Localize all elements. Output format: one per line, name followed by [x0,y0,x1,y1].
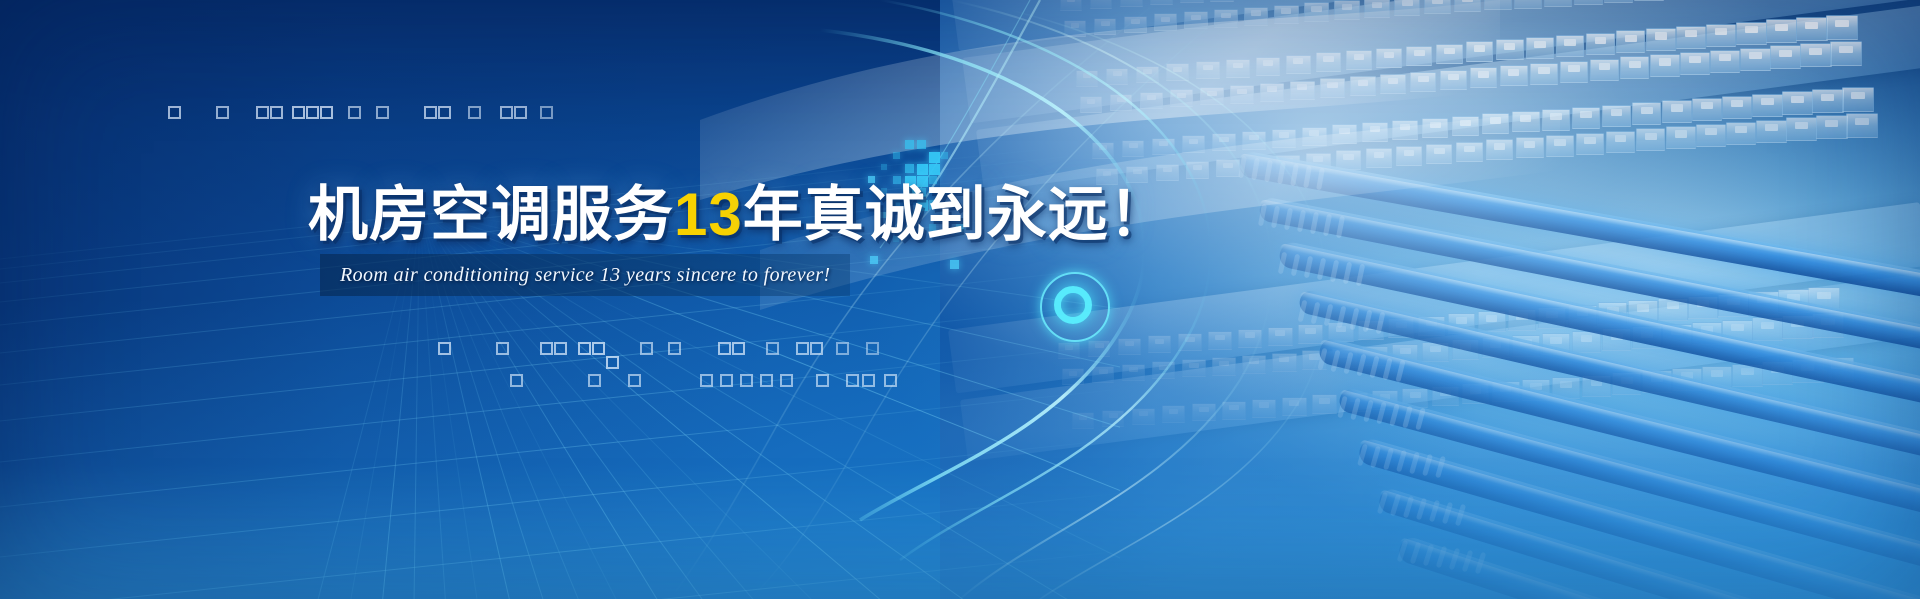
hollow-square [628,374,641,387]
hollow-square [256,106,269,119]
hollow-square [270,106,283,119]
hollow-square [348,106,361,119]
hollow-square [846,374,859,387]
headline-suffix: 年真诚到永远！ [743,181,1170,248]
hollow-square [866,342,879,355]
hollow-square [438,342,451,355]
hollow-square [640,342,653,355]
pixel-square [941,152,948,159]
hollow-square [816,374,829,387]
subtitle-text: Room air conditioning service 13 years s… [340,256,840,294]
hollow-square [578,342,591,355]
hollow-square [424,106,437,119]
hollow-square [306,106,319,119]
hollow-square [540,106,553,119]
hollow-square [718,342,731,355]
hollow-square [588,374,601,387]
hollow-square [732,342,745,355]
hollow-square [540,342,553,355]
hollow-square [668,342,681,355]
hollow-square [884,374,897,387]
light-arc-swooshes [0,0,1920,599]
hollow-square [292,106,305,119]
hollow-square [740,374,753,387]
hollow-square [700,374,713,387]
hollow-square [766,342,779,355]
hollow-square [168,106,181,119]
glowing-target-ring [1040,272,1110,342]
hollow-square [862,374,875,387]
hollow-square [216,106,229,119]
pixel-square [893,152,900,159]
hollow-square [376,106,389,119]
hollow-square [720,374,733,387]
hollow-square [780,374,793,387]
pixel-square [929,152,940,163]
hollow-square [510,374,523,387]
promo-banner: 机房空调服务13年真诚到永远！ Room air conditioning se… [0,0,1920,599]
hollow-square [796,342,809,355]
page-title: 机房空调服务13年真诚到永远！ [308,166,1170,253]
hollow-square [836,342,849,355]
pixel-square [917,140,926,149]
pixel-square [870,256,878,264]
hollow-square [468,106,481,119]
hollow-square [760,374,773,387]
hollow-square [500,106,513,119]
hollow-square [514,106,527,119]
hollow-square [606,356,619,369]
pixel-square [905,140,914,149]
headline-prefix: 机房空调服务 [308,181,674,248]
hollow-square [320,106,333,119]
hollow-square [496,342,509,355]
hollow-square [438,106,451,119]
ring-inner-circle [1054,286,1092,324]
hollow-square [810,342,823,355]
hollow-square [554,342,567,355]
pixel-square [950,260,959,269]
headline-number: 13 [674,181,743,248]
hollow-square [592,342,605,355]
